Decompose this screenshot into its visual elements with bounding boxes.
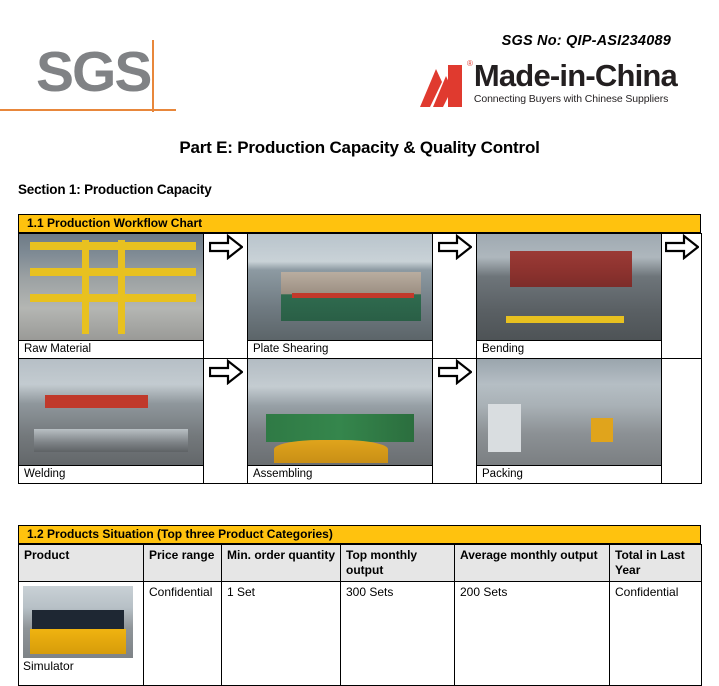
banner-products-situation: 1.2 Products Situation (Top three Produc…: [18, 525, 701, 544]
product-label: Simulator: [23, 658, 143, 673]
workflow-caption-cell: Welding: [19, 466, 204, 484]
column-header-total-in-last-year: Total in Last Year: [610, 545, 702, 582]
workflow-photo-cell: [19, 359, 204, 466]
workflow-caption-cell: Raw Material: [19, 341, 204, 359]
workflow-caption: Assembling: [248, 466, 432, 482]
page-title: Part E: Production Capacity & Quality Co…: [0, 122, 719, 158]
products-table-header-row: Product Price range Min. order quantity …: [19, 545, 702, 582]
workflow-photo-cell: [477, 359, 662, 466]
section-title: Section 1: Production Capacity: [0, 158, 719, 197]
made-in-china-tagline: Connecting Buyers with Chinese Suppliers: [474, 92, 677, 106]
made-in-china-m-mark-icon: ®: [418, 62, 470, 108]
workflow-caption-cell: Assembling: [248, 466, 433, 484]
plate-shearing-photo: [248, 234, 432, 340]
simulator-photo-image: [23, 586, 133, 658]
workflow-image-row: [19, 359, 702, 466]
min-order-quantity-cell: 1 Set: [222, 582, 341, 686]
table-row: Simulator Confidential 1 Set 300 Sets 20…: [19, 582, 702, 686]
workflow-caption: Raw Material: [19, 341, 203, 357]
column-header-min-order-quantity: Min. order quantity: [222, 545, 341, 582]
registered-trademark-icon: ®: [467, 59, 473, 68]
sgs-logo-text: SGS: [36, 44, 150, 101]
workflow-caption-row: Raw Material Plate Shearing Bending: [19, 341, 702, 359]
packing-photo: [477, 359, 661, 465]
workflow-caption: Plate Shearing: [248, 341, 432, 357]
sgs-logo: SGS: [36, 44, 181, 114]
made-in-china-logo: ® Made-in-China Connecting Buyers with C…: [418, 60, 677, 108]
workflow-arrow-cell: [433, 234, 477, 359]
workflow-caption-row: Welding Assembling Packing: [19, 466, 702, 484]
document-header: SGS SGS No: QIP-ASI234089 ® Made-in-Chin…: [0, 0, 719, 122]
made-in-china-wordmark: Made-in-China Connecting Buyers with Chi…: [474, 60, 677, 106]
made-in-china-title: Made-in-China: [474, 60, 677, 91]
column-header-top-monthly-output: Top monthly output: [341, 545, 455, 582]
welding-photo: [19, 359, 203, 465]
right-arrow-icon: [438, 234, 472, 260]
workflow-caption-cell: Plate Shearing: [248, 341, 433, 359]
sgs-logo-vertical-rule: [152, 40, 154, 112]
workflow-caption: Packing: [477, 466, 661, 482]
right-arrow-icon: [209, 234, 243, 260]
workflow-caption-cell: Bending: [477, 341, 662, 359]
column-header-average-monthly-output: Average monthly output: [455, 545, 610, 582]
workflow-empty-cell: [662, 359, 702, 484]
right-arrow-icon: [209, 359, 243, 385]
bending-photo: [477, 234, 661, 340]
right-arrow-icon: [438, 359, 472, 385]
right-arrow-icon: [665, 234, 699, 260]
banner-production-workflow-chart: 1.1 Production Workflow Chart: [18, 214, 701, 233]
workflow-photo-cell: [248, 234, 433, 341]
top-monthly-output-cell: 300 Sets: [341, 582, 455, 686]
workflow-photo-cell: [19, 234, 204, 341]
price-range-cell: Confidential: [144, 582, 222, 686]
products-situation-table: Product Price range Min. order quantity …: [18, 544, 702, 686]
workflow-arrow-cell: [204, 234, 248, 359]
workflow-photo-cell: [248, 359, 433, 466]
workflow-image-row: [19, 234, 702, 341]
column-header-price-range: Price range: [144, 545, 222, 582]
simulator-photo: [23, 586, 133, 658]
average-monthly-output-cell: 200 Sets: [455, 582, 610, 686]
production-workflow-table: Raw Material Plate Shearing Bending: [18, 233, 702, 484]
workflow-photo-cell: [477, 234, 662, 341]
assembling-photo: [248, 359, 432, 465]
raw-material-photo: [19, 234, 203, 340]
workflow-arrow-cell: [204, 359, 248, 484]
workflow-arrow-cell-trailing: [662, 234, 702, 359]
product-cell: Simulator: [19, 582, 144, 686]
total-in-last-year-cell: Confidential: [610, 582, 702, 686]
workflow-caption: Bending: [477, 341, 661, 357]
column-header-product: Product: [19, 545, 144, 582]
workflow-arrow-cell: [433, 359, 477, 484]
workflow-caption-cell: Packing: [477, 466, 662, 484]
sgs-number: SGS No: QIP-ASI234089: [502, 33, 671, 49]
workflow-caption: Welding: [19, 466, 203, 482]
sgs-logo-horizontal-rule: [0, 109, 176, 111]
